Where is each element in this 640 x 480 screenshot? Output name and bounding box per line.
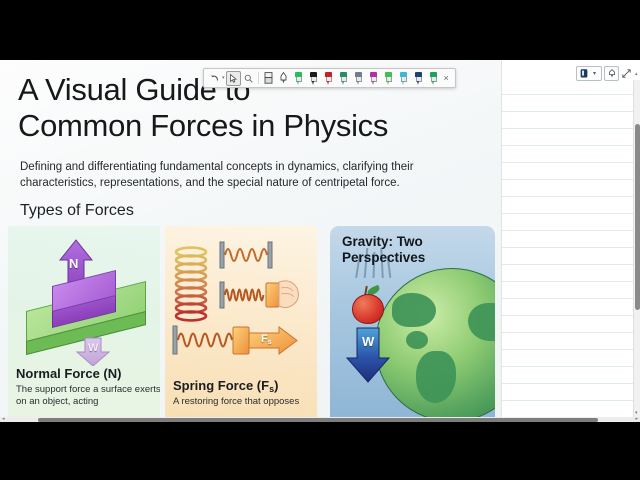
- marker-black-icon[interactable]: [306, 71, 321, 86]
- marker-black-glyph: [309, 72, 318, 85]
- screen: A Visual Guide to Common Forces in Physi…: [0, 0, 640, 480]
- marker-lightgreen-icon[interactable]: [381, 71, 396, 86]
- notes-panel[interactable]: ▾ ▴ ▾: [501, 60, 640, 417]
- weight-arrow-label: W: [88, 342, 98, 354]
- marker-green-glyph: [294, 72, 303, 85]
- landmass-east: [468, 303, 495, 341]
- marker-magenta-icon[interactable]: [366, 71, 381, 86]
- expand-arrows-icon[interactable]: [621, 68, 632, 79]
- notes-pen-group[interactable]: ▾: [576, 66, 602, 81]
- landmass-north: [392, 293, 436, 327]
- normal-force-arrow-label: N: [69, 256, 78, 271]
- annotation-toolbar[interactable]: ▾ ×: [203, 68, 456, 88]
- marker-navy-icon[interactable]: [411, 71, 426, 86]
- magnifier-icon[interactable]: [241, 71, 256, 86]
- marker-emerald-glyph: [429, 72, 438, 85]
- apple: [352, 294, 384, 324]
- card-normal-force-title: Normal Force (N): [16, 366, 121, 381]
- marker-color-group[interactable]: [291, 71, 441, 86]
- ruled-lines: [502, 78, 633, 413]
- page-title-line2: Common Forces in Physics: [18, 108, 488, 144]
- letterbox-bottom: [0, 422, 640, 480]
- application-window: A Visual Guide to Common Forces in Physi…: [0, 60, 640, 422]
- marker-lightgreen-glyph: [384, 72, 393, 85]
- marker-slate-glyph: [354, 72, 363, 85]
- eraser-icon[interactable]: [261, 71, 276, 86]
- landmass-south: [416, 351, 456, 403]
- marker-teal-glyph: [339, 72, 348, 85]
- card-spring-force-description: A restoring force that opposes: [173, 396, 317, 408]
- card-normal-force-description: The support force a surface exerts on an…: [16, 384, 160, 408]
- undo-caret-icon[interactable]: ▾: [222, 75, 225, 81]
- letterbox-top: [0, 0, 640, 60]
- notes-pen-caret-icon[interactable]: ▾: [589, 68, 600, 79]
- cursor-select-icon[interactable]: [226, 71, 241, 86]
- marker-navy-glyph: [414, 72, 423, 85]
- card-normal-force[interactable]: N W Normal Force (N) The support force a…: [8, 226, 160, 417]
- marker-green-icon[interactable]: [291, 71, 306, 86]
- card-gravity-title-line2: Perspectives: [342, 250, 452, 266]
- card-gravity[interactable]: W Gravity: Two Perspectives: [330, 226, 495, 417]
- marker-emerald-icon[interactable]: [426, 71, 441, 86]
- marker-red-icon[interactable]: [321, 71, 336, 86]
- toolbar-separator: [258, 72, 259, 84]
- horizontal-scroll-thumb[interactable]: [38, 418, 598, 422]
- spring-illustration-svg: [165, 230, 317, 382]
- notes-vertical-scroll-thumb[interactable]: [635, 124, 640, 310]
- card-spring-force[interactable]: Fs Spring Force (Fs) A restoring force t…: [165, 226, 317, 417]
- highlighter-icon[interactable]: [606, 68, 617, 79]
- marker-red-glyph: [324, 72, 333, 85]
- notes-highlighter-group[interactable]: [604, 66, 619, 81]
- section-heading: Types of Forces: [20, 202, 134, 220]
- undo-icon[interactable]: [207, 71, 222, 86]
- slide-canvas[interactable]: A Visual Guide to Common Forces in Physi…: [0, 60, 501, 417]
- earth-globe: [375, 268, 495, 417]
- notes-toolbar[interactable]: ▾: [576, 66, 632, 81]
- marker-teal-icon[interactable]: [336, 71, 351, 86]
- gravity-arrow-label: W: [362, 334, 374, 349]
- marker-magenta-glyph: [369, 72, 378, 85]
- card-gravity-title-line1: Gravity: Two: [342, 234, 452, 250]
- marker-cyan-icon[interactable]: [396, 71, 411, 86]
- scroll-up-arrow[interactable]: ▴: [635, 72, 638, 77]
- notes-vertical-scrollbar[interactable]: ▴ ▾: [633, 80, 640, 417]
- page-subtitle: Defining and differentiating fundamental…: [20, 160, 460, 191]
- pen-icon[interactable]: [276, 71, 291, 86]
- card-spring-force-title: Spring Force (Fs): [173, 378, 278, 394]
- spring-force-illustration: Fs: [165, 230, 317, 378]
- landmass-central: [406, 331, 428, 349]
- close-icon[interactable]: ×: [441, 73, 452, 83]
- marker-cyan-glyph: [399, 72, 408, 85]
- note-pen-icon[interactable]: [578, 68, 589, 79]
- normal-force-illustration: N W: [8, 234, 160, 366]
- spring-force-arrow-label: Fs: [261, 333, 272, 346]
- card-gravity-title: Gravity: Two Perspectives: [342, 234, 452, 266]
- marker-slate-icon[interactable]: [351, 71, 366, 86]
